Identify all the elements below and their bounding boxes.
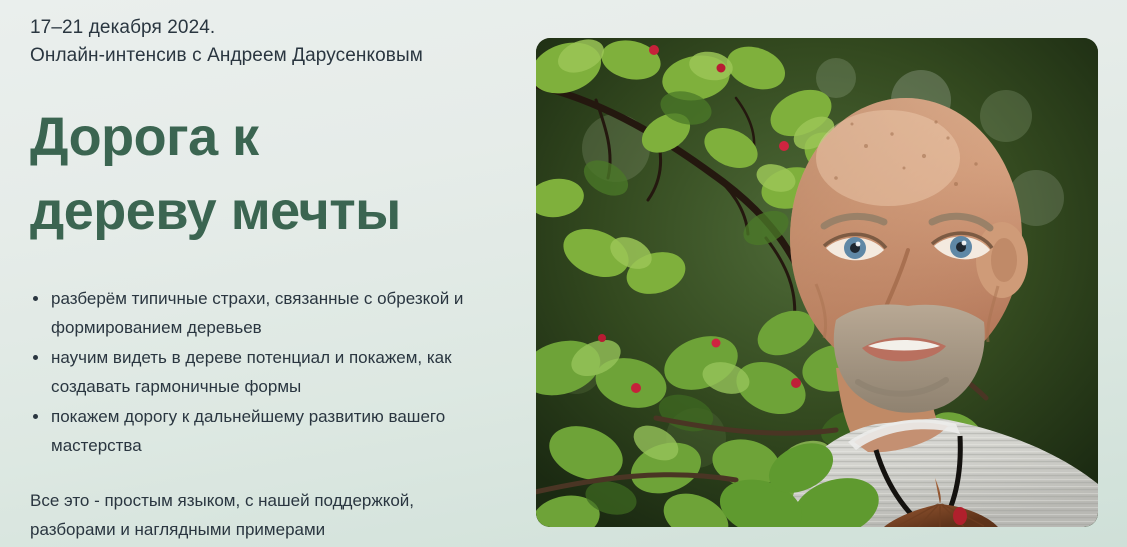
bullet-dot-icon bbox=[33, 296, 38, 301]
event-dates: 17–21 декабря 2024. bbox=[30, 14, 520, 42]
list-item: покажем дорогу к дальнейшему развитию ва… bbox=[30, 402, 520, 460]
promo-slide: 17–21 декабря 2024. Онлайн-интенсив с Ан… bbox=[0, 0, 1127, 547]
page-title-line-1: Дорога к bbox=[30, 100, 520, 174]
benefits-list: разберём типичные страхи, связанные с об… bbox=[30, 284, 520, 460]
list-item-label: научим видеть в дереве потенциал и покаж… bbox=[51, 348, 452, 396]
list-item: разберём типичные страхи, связанные с об… bbox=[30, 284, 520, 342]
speaker-photo bbox=[536, 38, 1098, 527]
event-subtitle: Онлайн-интенсив с Андреем Дарусенковым bbox=[30, 42, 520, 70]
page-title-line-2: дереву мечты bbox=[30, 174, 520, 248]
closing-note-line-1: Все это - простым языком, с нашей поддер… bbox=[30, 486, 520, 515]
list-item-label: покажем дорогу к дальнейшему развитию ва… bbox=[51, 407, 445, 455]
speaker-photo-illustration bbox=[536, 38, 1098, 527]
pendant-stone bbox=[953, 507, 967, 525]
closing-note-line-2: разборами и наглядными примерами bbox=[30, 515, 520, 544]
list-item-label: разберём типичные страхи, связанные с об… bbox=[51, 289, 463, 337]
bullet-dot-icon bbox=[33, 414, 38, 419]
forehead-highlight bbox=[816, 110, 960, 206]
text-column: 17–21 декабря 2024. Онлайн-интенсив с Ан… bbox=[30, 14, 520, 544]
event-kicker: 17–21 декабря 2024. Онлайн-интенсив с Ан… bbox=[30, 14, 520, 70]
closing-note: Все это - простым языком, с нашей поддер… bbox=[30, 486, 520, 544]
page-title: Дорога к дереву мечты bbox=[30, 100, 520, 248]
list-item: научим видеть в дереве потенциал и покаж… bbox=[30, 343, 520, 401]
bullet-dot-icon bbox=[33, 355, 38, 360]
